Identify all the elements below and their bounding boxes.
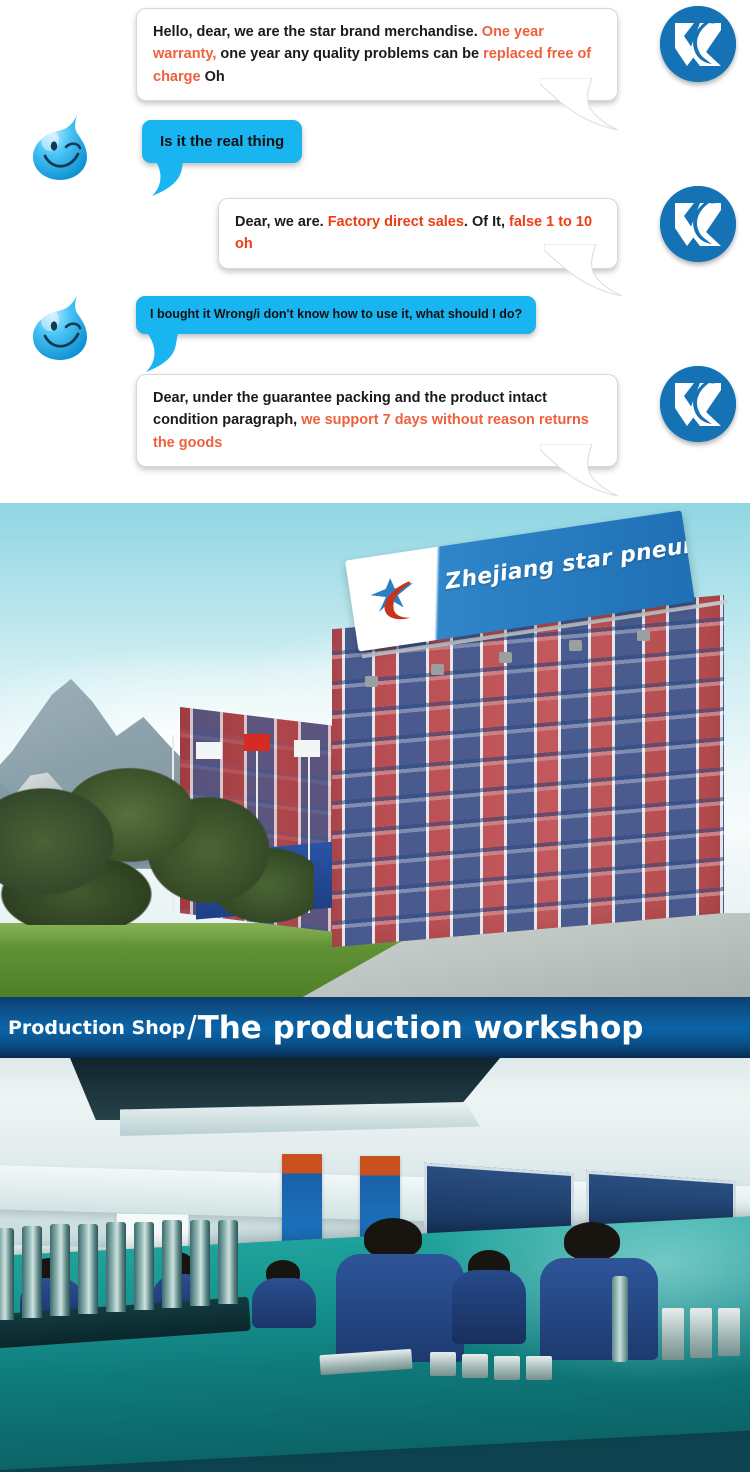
chat-bubble-tail-3 [544,244,630,298]
avatar-buyer-smiley-2 [30,292,92,362]
trees-foliage [0,705,314,925]
chat-bubble-tail-2 [150,156,196,198]
pneumatic-cylinder [78,1224,98,1314]
billboard-lamp [499,652,512,663]
avatar-seller-logo-1 [660,6,736,82]
chat-text-2: Is it the real thing [160,133,284,150]
aluminium-profile [718,1308,740,1356]
avatar-seller-logo-3 [660,366,736,442]
cylinder-rod [612,1276,628,1362]
chat-text-5: Dear, under the guarantee packing and th… [153,390,589,451]
chat-text-3: Dear, we are. Factory direct sales. Of I… [235,214,592,252]
aluminium-profile [690,1308,712,1358]
billboard-lamp [365,676,378,687]
machined-part [526,1356,552,1380]
pneumatic-cylinder [50,1224,70,1316]
aluminium-profile [662,1308,684,1360]
chat-text-4: I bought it Wrong/i don't know how to us… [150,307,522,321]
production-workshop-photo: Production Shop Production workshop Adva… [0,1058,750,1472]
machined-part [462,1354,488,1378]
factory-building-photo: Zhejiang star pneumatic [0,503,750,997]
production-shop-banner: Production Shop / The production worksho… [0,997,750,1058]
building-main-block [332,595,724,947]
chat-bubble-buyer-2: I bought it Wrong/i don't know how to us… [136,296,536,334]
banner-big-label: The production workshop [198,1010,644,1046]
pneumatic-cylinder [218,1220,238,1304]
pneumatic-cylinder [0,1228,14,1320]
pneumatic-cylinder [22,1226,42,1318]
pneumatic-cylinder [106,1222,126,1312]
chat-bubble-tail-5 [540,444,626,498]
billboard-lamp [431,664,444,675]
machined-part [430,1352,456,1376]
chat-conversation-section: Hello, dear, we are the star brand merch… [0,0,750,503]
xc-star-logo-icon [364,572,425,629]
avatar-seller-logo-2 [660,186,736,262]
billboard-lamp [569,640,582,651]
billboard-lamp [637,630,650,641]
pneumatic-cylinder [134,1222,154,1310]
machined-part [494,1356,520,1380]
chat-bubble-tail-1 [540,78,626,132]
chat-text-1: Hello, dear, we are the star brand merch… [153,24,591,85]
banner-divider: / [187,1011,196,1044]
pneumatic-cylinder [162,1220,182,1308]
chat-bubble-tail-4 [144,332,190,374]
avatar-buyer-smiley-1 [30,112,92,182]
pneumatic-cylinder [190,1220,210,1306]
banner-small-label: Production Shop [8,1017,185,1039]
